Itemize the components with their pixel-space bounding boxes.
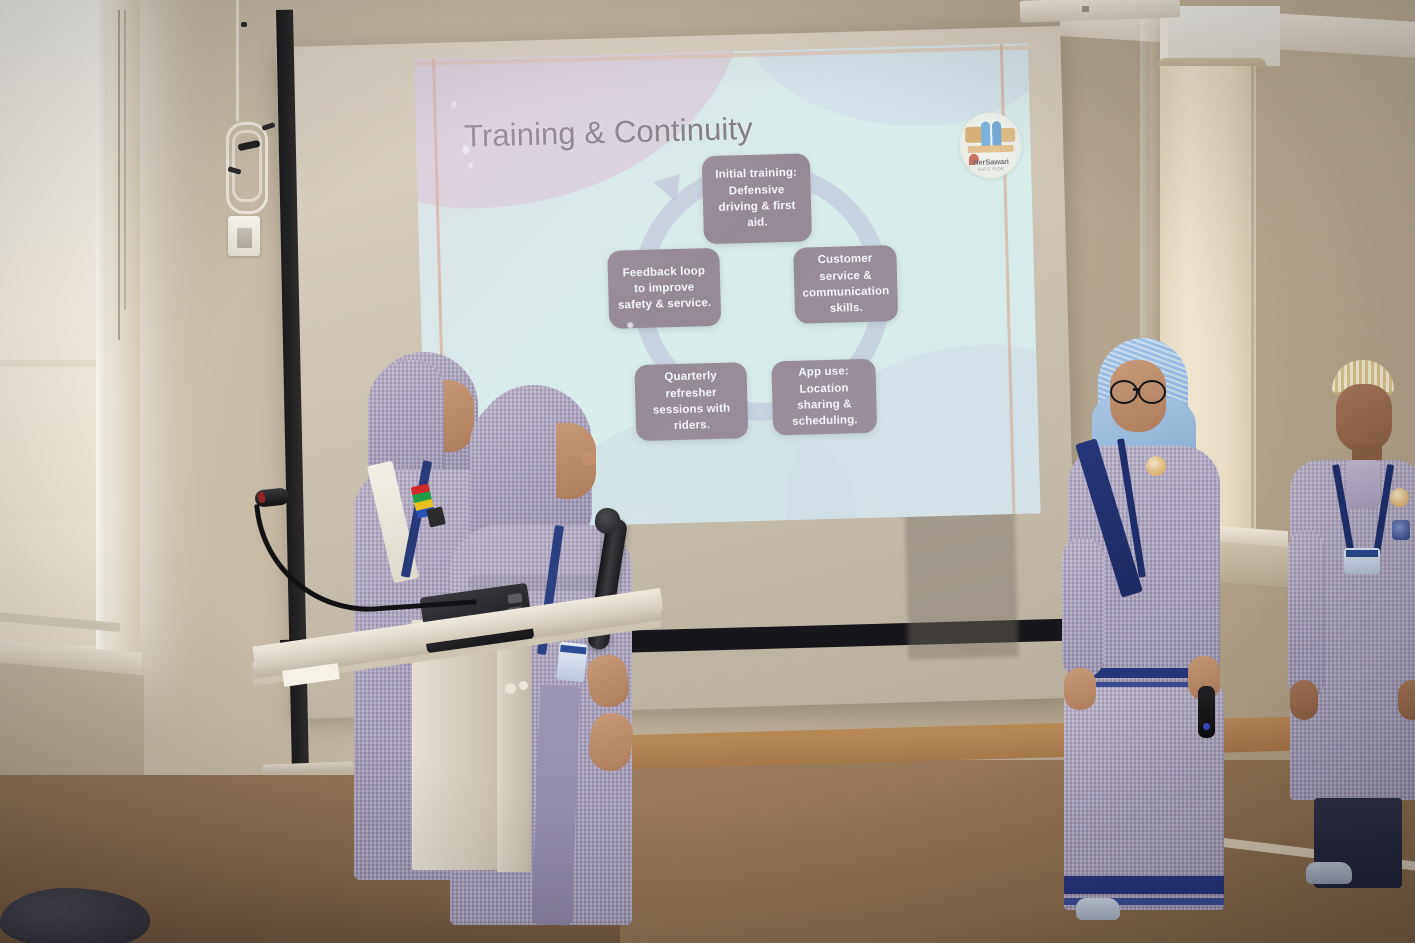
nose	[582, 451, 596, 465]
face	[1336, 384, 1392, 452]
crest-emblem	[1392, 520, 1410, 540]
screen-glare-speck	[462, 145, 469, 155]
left-arm	[1288, 530, 1324, 700]
logo-figure-one-icon	[981, 121, 991, 146]
logo-tagline: SAFE RIDE	[960, 166, 1022, 173]
window-left-mullion	[0, 360, 106, 367]
slide-title: Training & Continuity	[464, 111, 754, 155]
logo-figure-two-icon	[992, 121, 1002, 146]
collar	[1346, 460, 1380, 508]
console-button[interactable]	[507, 593, 522, 604]
id-card-header	[560, 645, 587, 655]
cable-clip	[241, 22, 247, 27]
screen-glare-speck	[451, 101, 456, 108]
blind-chain	[1251, 64, 1254, 534]
id-card	[556, 642, 588, 683]
screen-glare-speck	[469, 162, 473, 168]
round-badge	[1390, 488, 1409, 507]
round-badge	[1146, 456, 1166, 476]
remote-led-icon	[1203, 723, 1210, 730]
blind-pull-cord	[118, 10, 120, 340]
left-hand	[1064, 668, 1096, 710]
logo-base-bar	[968, 145, 1014, 153]
slide-box-app-use: App use: Location sharing & scheduling.	[771, 359, 877, 436]
podium-fixing-dot	[505, 683, 516, 694]
window-right-glass	[1168, 6, 1280, 66]
left-hand	[1290, 680, 1318, 720]
right-hand	[1398, 680, 1415, 720]
id-card-header	[1346, 550, 1378, 557]
wall-cable	[236, 0, 239, 122]
window-left-blind	[0, 0, 100, 518]
scarf-drape	[532, 684, 580, 925]
slide-box-feedback-loop: Feedback loop to improve safety & servic…	[607, 248, 721, 329]
student-right-boy	[1288, 360, 1415, 920]
shoe	[1076, 898, 1120, 920]
eyeglasses-left-lens-icon	[1110, 380, 1138, 404]
left-arm	[1062, 538, 1104, 678]
slide-box-initial-training: Initial training: Defensive driving & fi…	[702, 153, 812, 244]
skirt-hem-band	[1064, 876, 1224, 894]
classroom-presentation-photo: Training & Continuity Initial training: …	[0, 0, 1415, 943]
slide-box-customer-service: Customer service & communication skills.	[793, 245, 898, 324]
blind-pull-cord-loop	[124, 10, 126, 310]
slide-box-quarterly-refresher: Quarterly refresher sessions with riders…	[634, 362, 748, 441]
shoe	[1306, 862, 1352, 884]
student-right-girl	[1062, 338, 1222, 918]
screen-housing-vent	[1082, 6, 1089, 12]
eyeglasses-bridge-icon	[1133, 388, 1140, 391]
wall-switch[interactable]	[237, 228, 252, 248]
eyeglasses-right-lens-icon	[1138, 380, 1166, 404]
podium-fixing-dot	[519, 681, 528, 690]
microphone-indicator-ring	[257, 492, 265, 504]
id-card	[1344, 548, 1380, 574]
presentation-remote[interactable]	[1198, 686, 1215, 738]
hersawari-logo-icon: HerSawari SAFE RIDE	[959, 112, 1023, 180]
